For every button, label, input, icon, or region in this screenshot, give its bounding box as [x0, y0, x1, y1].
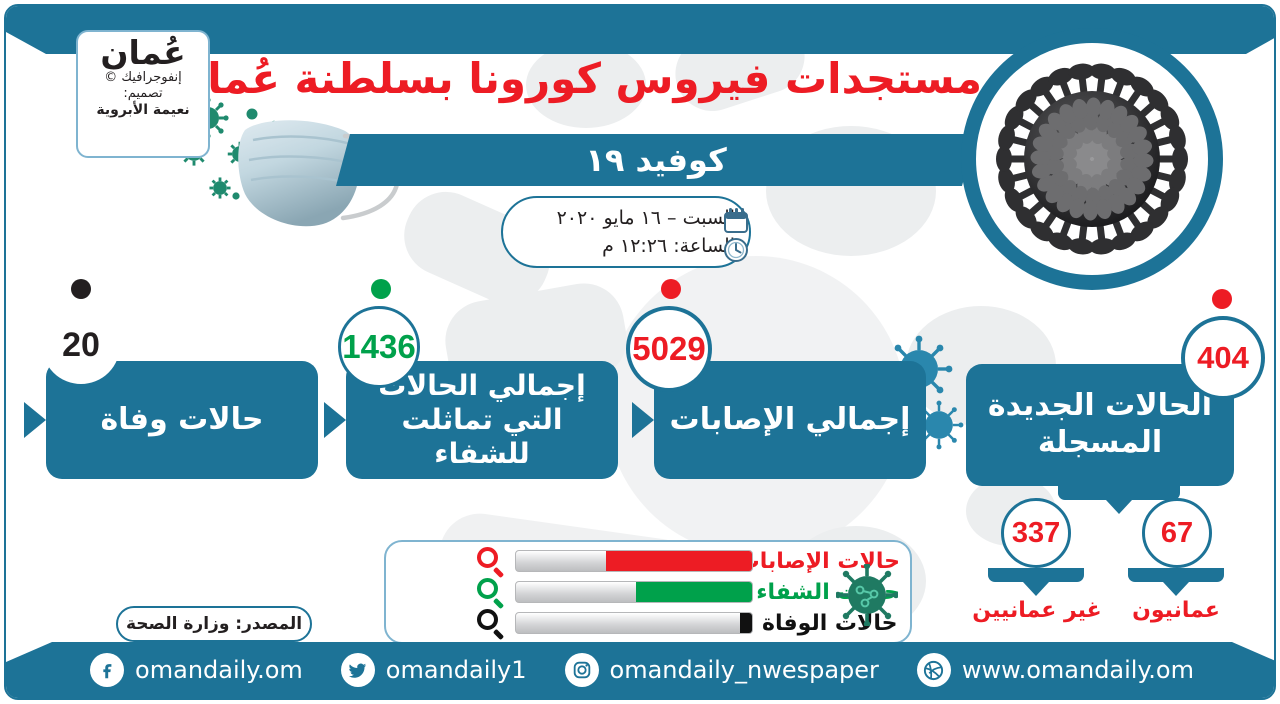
- magnifier-lens: [477, 547, 498, 568]
- social-footer: omandaily.om omandaily1 omandaily_nwespa…: [6, 642, 1276, 698]
- stat-value-recovered: 1436: [338, 306, 420, 388]
- source-note: المصدر: وزارة الصحة: [116, 606, 312, 642]
- social-item-instagram[interactable]: omandaily_nwespaper: [565, 653, 879, 687]
- stat-label-recovered: إجمالي الحالات التي تماثلت للشفاء: [360, 369, 604, 471]
- clock-icon: [721, 234, 751, 264]
- legend-panel: حالات الإصابات حالات الشفاء حالات الوفاة: [384, 540, 912, 644]
- social-text-facebook: omandaily.om: [135, 656, 303, 684]
- stat-label-deaths: حالات وفاة: [100, 402, 263, 439]
- stat-label-new: الحالات الجديدة المسجلة: [980, 388, 1220, 461]
- logo-design-line: تصميم:: [123, 86, 162, 102]
- legend-track-recoveries: [515, 581, 753, 603]
- magnifier-icon: [476, 608, 506, 638]
- social-item-website[interactable]: www.omandaily.om: [917, 653, 1194, 687]
- breakdown-value-omani: 67: [1142, 498, 1212, 568]
- magnifier-icon: [476, 577, 506, 607]
- magnifier-lens: [477, 578, 498, 599]
- date-text: السبت – ١٦ مايو ٢٠٢٠: [537, 204, 735, 232]
- green-virus-icon: [836, 564, 898, 626]
- stat-value-deaths: 20: [42, 306, 120, 384]
- bracket-stem: [1128, 568, 1224, 582]
- bracket-stem: [1058, 486, 1180, 500]
- stat-label-infected: إجمالي الإصابات: [670, 402, 911, 439]
- magnifier-handle: [493, 629, 504, 640]
- card-tail: [24, 402, 46, 438]
- subtitle-text: كوفيد ١٩: [585, 141, 726, 179]
- legend-fill-deaths: [740, 613, 752, 633]
- bracket-tip: [1163, 582, 1189, 596]
- card-tail: [324, 402, 346, 438]
- breakdown-value-non-omani: 337: [1001, 498, 1071, 568]
- infographic-frame: عُمان إنفوجرافيك © تصميم: نعيمة الأبروية…: [4, 4, 1276, 700]
- stat-value-new: 404: [1181, 316, 1265, 400]
- hero-virus-graphic: [961, 28, 1223, 290]
- bracket-tip: [1106, 500, 1132, 514]
- facebook-icon: [90, 653, 124, 687]
- logo-wordmark: عُمان: [100, 36, 185, 70]
- social-text-website: www.omandaily.om: [962, 656, 1194, 684]
- bracket-stem: [988, 568, 1084, 582]
- publisher-logo: عُمان إنفوجرافيك © تصميم: نعيمة الأبروية: [76, 30, 210, 158]
- legend-fill-recoveries: [636, 582, 752, 602]
- time-text: الساعة: ١٢:٢٦ م: [537, 232, 735, 260]
- datetime-box: السبت – ١٦ مايو ٢٠٢٠ الساعة: ١٢:٢٦ م: [501, 196, 751, 268]
- bracket-tip: [1023, 582, 1049, 596]
- social-item-twitter[interactable]: omandaily1: [341, 653, 527, 687]
- virus-particle-dark: [961, 28, 1223, 290]
- magnifier-icon: [476, 546, 506, 576]
- globe-icon: [917, 653, 951, 687]
- card-tail: [632, 402, 654, 438]
- legend-track-infections: [515, 550, 753, 572]
- logo-infographic-line: إنفوجرافيك ©: [104, 70, 182, 86]
- instagram-icon: [565, 653, 599, 687]
- social-item-facebook[interactable]: omandaily.om: [90, 653, 303, 687]
- magnifier-lens: [477, 609, 498, 630]
- page-title: مستجدات فيروس كورونا بسلطنة عُمان: [302, 54, 982, 103]
- legend-track-deaths: [515, 612, 753, 634]
- twitter-icon: [341, 653, 375, 687]
- logo-designer-name: نعيمة الأبروية: [96, 102, 189, 118]
- stat-value-infected: 5029: [626, 306, 712, 392]
- social-text-instagram: omandaily_nwespaper: [610, 656, 879, 684]
- social-text-twitter: omandaily1: [386, 656, 527, 684]
- calendar-icon: [721, 206, 751, 236]
- breakdown-label-non-omani: غير عمانيين: [964, 598, 1110, 623]
- subtitle-ribbon: كوفيد ١٩: [336, 134, 976, 186]
- breakdown-label-omani: عمانيون: [1110, 598, 1242, 623]
- legend-fill-infections: [606, 551, 752, 571]
